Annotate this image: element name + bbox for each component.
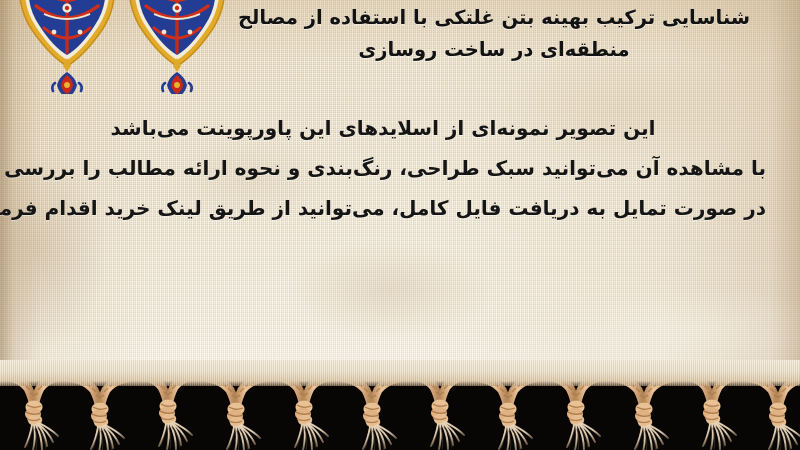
cloth-selvedge-edge <box>0 360 800 386</box>
slide-body-text: این تصویر نمونه‌ای از اسلایدهای این پاور… <box>0 108 800 228</box>
carpet-fringe-tassels <box>0 360 800 450</box>
slide-canvas: شناسایی ترکیب بهینه بتن غلتکی با استفاده… <box>0 0 800 450</box>
persian-medallion-motif-left <box>14 0 120 98</box>
body-line-1: این تصویر نمونه‌ای از اسلایدهای این پاور… <box>0 108 766 148</box>
slide-title-line-2: منطقه‌ای در ساخت روسازی <box>224 34 764 66</box>
persian-medallion-motif-right <box>124 0 230 98</box>
slide-title: شناسایی ترکیب بهینه بتن غلتکی با استفاده… <box>224 2 764 66</box>
slide-title-line-1: شناسایی ترکیب بهینه بتن غلتکی با استفاده… <box>224 2 764 34</box>
body-line-3: در صورت تمایل به دریافت فایل کامل، می‌تو… <box>0 188 766 228</box>
body-line-2: با مشاهده آن می‌توانید سبک طراحی، رنگ‌بن… <box>0 148 766 188</box>
